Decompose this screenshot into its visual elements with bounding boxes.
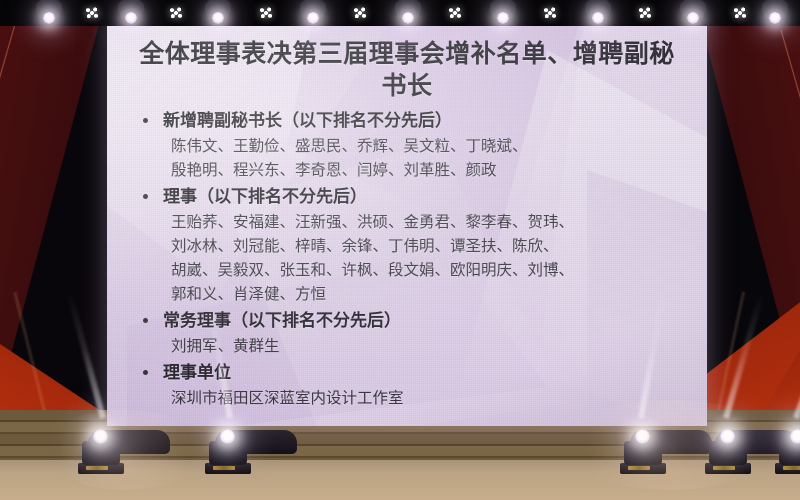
floor-moving-head-light[interactable] <box>775 428 800 474</box>
section-heading-label: 常务理事（以下排名不分先后） <box>163 311 401 331</box>
section-name-list: 王贻荞、安福建、汪新强、洪硕、金勇君、黎李春、贺玮、 刘冰林、刘冠能、梓晴、余锋… <box>107 210 707 306</box>
truss-led-cluster[interactable] <box>258 6 274 20</box>
section-name-list: 陈伟文、王勤俭、盛思民、乔辉、吴文粒、丁晓斌、 殷艳明、程兴东、李奇恩、闫婷、刘… <box>107 134 707 182</box>
slide-sections: 新增聘副秘书长（以下排名不分先后） 陈伟文、王勤俭、盛思民、乔辉、吴文粒、丁晓斌… <box>107 108 707 412</box>
slide-section: 理事单位 深圳市福田区深蓝室内设计工作室 <box>107 360 707 410</box>
bullet-icon <box>143 318 148 323</box>
name-line: 陈伟文、王勤俭、盛思民、乔辉、吴文粒、丁晓斌、 <box>171 134 685 158</box>
spotlight-lens-icon <box>687 12 699 24</box>
led-presentation-screen[interactable]: 全体理事表决第三届理事会增补名单、增聘副秘书长 新增聘副秘书长（以下排名不分先后… <box>107 20 707 426</box>
moving-head-lens-icon <box>635 429 650 444</box>
moving-head-lens-icon <box>790 429 800 444</box>
section-name-list: 刘拥军、黄群生 <box>107 334 707 358</box>
truss-led-cluster[interactable] <box>542 6 558 20</box>
section-name-list: 深圳市福田区深蓝室内设计工作室 <box>107 386 707 410</box>
name-line: 刘拥军、黄群生 <box>171 334 685 358</box>
stage-scene: 全体理事表决第三届理事会增补名单、增聘副秘书长 新增聘副秘书长（以下排名不分先后… <box>0 0 800 500</box>
slide-section: 新增聘副秘书长（以下排名不分先后） 陈伟文、王勤俭、盛思民、乔辉、吴文粒、丁晓斌… <box>107 108 707 182</box>
truss-spotlight[interactable] <box>205 0 231 30</box>
spotlight-lens-icon <box>497 12 509 24</box>
bullet-icon <box>143 194 148 199</box>
floor-moving-head-light[interactable] <box>620 428 666 474</box>
section-heading-label: 理事（以下排名不分先后） <box>163 187 367 207</box>
slide-content: 全体理事表决第三届理事会增补名单、增聘副秘书长 新增聘副秘书长（以下排名不分先后… <box>107 20 707 426</box>
name-line: 深圳市福田区深蓝室内设计工作室 <box>171 386 685 410</box>
truss-led-cluster[interactable] <box>637 6 653 20</box>
name-line: 郭和义、肖泽健、方恒 <box>171 282 685 306</box>
name-line: 刘冰林、刘冠能、梓晴、余锋、丁伟明、谭圣扶、陈欣、 <box>171 234 685 258</box>
truss-spotlight[interactable] <box>395 0 421 30</box>
slide-section: 理事（以下排名不分先后） 王贻荞、安福建、汪新强、洪硕、金勇君、黎李春、贺玮、 … <box>107 184 707 306</box>
spotlight-lens-icon <box>592 12 604 24</box>
bullet-icon <box>143 370 148 375</box>
name-line: 殷艳明、程兴东、李奇恩、闫婷、刘革胜、颜政 <box>171 158 685 182</box>
section-heading-label: 新增聘副秘书长（以下排名不分先后） <box>163 111 452 131</box>
truss-spotlight[interactable] <box>300 0 326 30</box>
floor-moving-head-light[interactable] <box>78 428 124 474</box>
truss-spotlight[interactable] <box>680 0 706 30</box>
moving-head-lens-icon <box>220 429 235 444</box>
truss-spotlight[interactable] <box>490 0 516 30</box>
truss-spotlight[interactable] <box>762 0 788 30</box>
truss-spotlight[interactable] <box>585 0 611 30</box>
spotlight-lens-icon <box>43 12 55 24</box>
bullet-icon <box>143 118 148 123</box>
section-heading: 常务理事（以下排名不分先后） <box>107 308 707 334</box>
truss-spotlight[interactable] <box>118 0 144 30</box>
moving-head-lens-icon <box>720 429 735 444</box>
truss-led-cluster[interactable] <box>84 6 100 20</box>
spotlight-lens-icon <box>125 12 137 24</box>
moving-head-lens-icon <box>93 429 108 444</box>
spotlight-lens-icon <box>307 12 319 24</box>
floor-moving-head-light[interactable] <box>205 428 251 474</box>
truss-spotlight[interactable] <box>36 0 62 30</box>
spotlight-lens-icon <box>402 12 414 24</box>
section-heading: 理事（以下排名不分先后） <box>107 184 707 210</box>
name-line: 胡崴、吴毅双、张玉和、许枫、段文娟、欧阳明庆、刘博、 <box>171 258 685 282</box>
section-heading: 新增聘副秘书长（以下排名不分先后） <box>107 108 707 134</box>
slide-title: 全体理事表决第三届理事会增补名单、增聘副秘书长 <box>107 38 707 102</box>
spotlight-lens-icon <box>212 12 224 24</box>
floor-moving-head-light[interactable] <box>705 428 751 474</box>
truss-led-cluster[interactable] <box>732 6 748 20</box>
slide-section: 常务理事（以下排名不分先后） 刘拥军、黄群生 <box>107 308 707 358</box>
truss-led-cluster[interactable] <box>352 6 368 20</box>
section-heading: 理事单位 <box>107 360 707 386</box>
spotlight-lens-icon <box>769 12 781 24</box>
truss-led-cluster[interactable] <box>168 6 184 20</box>
name-line: 王贻荞、安福建、汪新强、洪硕、金勇君、黎李春、贺玮、 <box>171 210 685 234</box>
truss-led-cluster[interactable] <box>447 6 463 20</box>
